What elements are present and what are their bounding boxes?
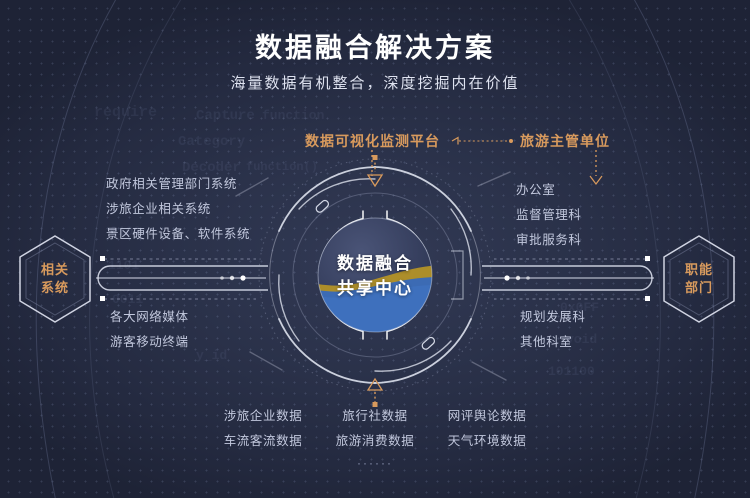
- vertical-flow-markers: [0, 0, 750, 498]
